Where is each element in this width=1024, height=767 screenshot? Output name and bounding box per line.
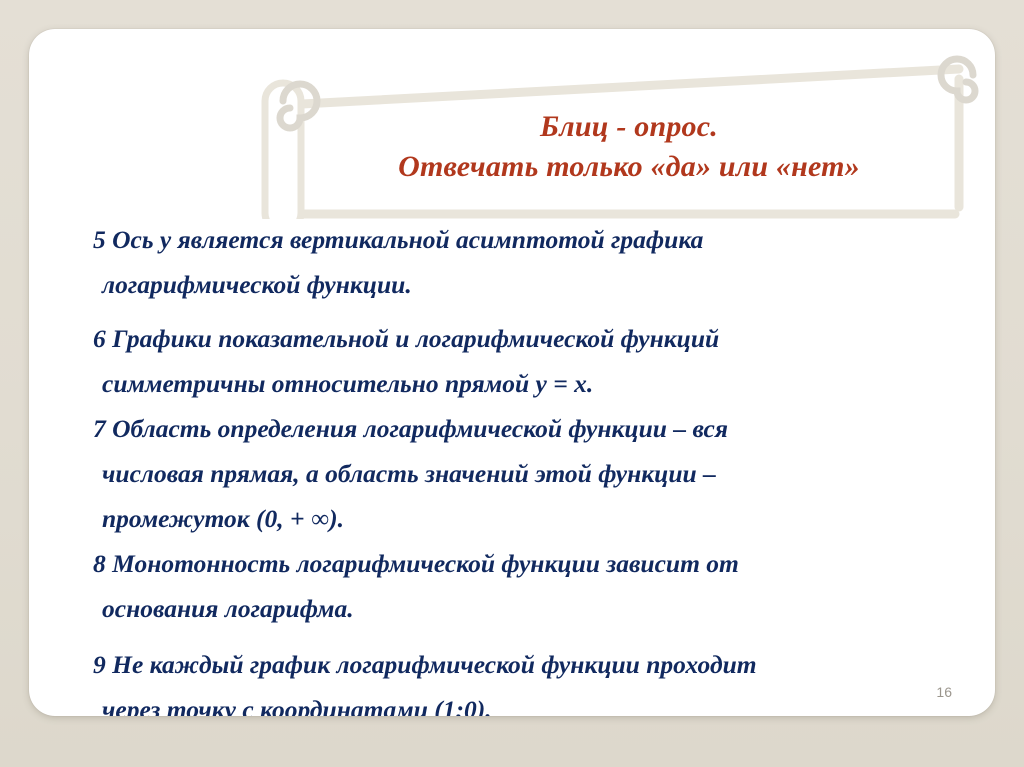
scroll-top-bar [283, 69, 959, 105]
question-7-line-2: числовая прямая, а область значений этой… [65, 451, 971, 496]
question-8-line-1: 8 Монотонность логарифмической функции з… [65, 541, 971, 586]
question-5-line-1: 5 Ось у является вертикальной асимптотой… [65, 217, 971, 262]
scroll-right-curl-icon [941, 59, 975, 100]
question-item-8: 8 Монотонность логарифмической функции з… [65, 541, 971, 631]
question-6-line-2: симметричны относительно прямой у = х. [65, 361, 971, 406]
slide: Блиц - опрос. Отвечать только «да» или «… [0, 0, 1024, 767]
question-item-9: 9 Не каждый график логарифмической функц… [65, 642, 971, 716]
title-line-1: Блиц - опрос. [299, 107, 959, 147]
question-5-line-2: логарифмической функции. [65, 262, 971, 307]
slide-number: 16 [936, 685, 952, 699]
question-9-line-1: 9 Не каждый график логарифмической функц… [65, 642, 971, 687]
slide-title: Блиц - опрос. Отвечать только «да» или «… [299, 107, 959, 187]
question-7-line-3: промежуток (0, + ∞). [65, 496, 971, 541]
title-line-2: Отвечать только «да» или «нет» [299, 147, 959, 187]
question-item-6: 6 Графики показательной и логарифмическо… [65, 316, 971, 406]
question-item-7: 7 Область определения логарифмической фу… [65, 406, 971, 541]
question-7-line-1: 7 Область определения логарифмической фу… [65, 406, 971, 451]
question-item-5: 5 Ось у является вертикальной асимптотой… [65, 217, 971, 307]
question-list: 5 Ось у является вертикальной асимптотой… [65, 217, 971, 716]
question-6-line-1: 6 Графики показательной и логарифмическо… [65, 316, 971, 361]
scroll-left-roll [265, 83, 301, 219]
question-8-line-2: основания логарифма. [65, 586, 971, 631]
question-9-line-2: через точку с координатами (1;0). [65, 687, 971, 716]
slide-card: Блиц - опрос. Отвечать только «да» или «… [29, 29, 995, 716]
